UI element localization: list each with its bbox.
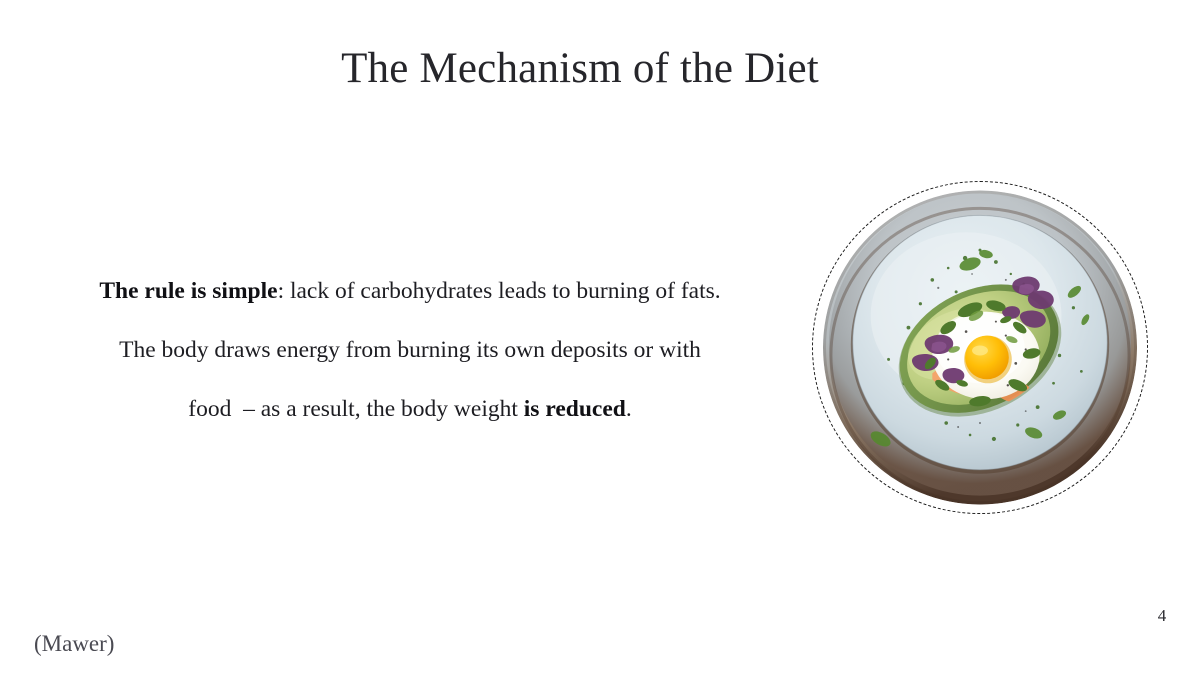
slide-image-figure	[812, 181, 1148, 514]
body-line-1-rest: : lack of carbohydrates leads to burning…	[278, 278, 721, 304]
body-text-block: The rule is simple: lack of carbohydrate…	[40, 262, 780, 439]
body-line-2-text: The body draws energy from burning its o…	[119, 337, 701, 363]
body-line-2: The body draws energy from burning its o…	[40, 321, 780, 380]
body-line-3-start: food – as a result, the body weight	[188, 396, 523, 422]
slide-page-number: 4	[1150, 606, 1174, 626]
food-photo-circle	[821, 190, 1139, 505]
body-line-3-end: .	[626, 396, 632, 422]
slide-canvas: The Mechanism of the Diet The rule is si…	[0, 0, 1200, 675]
body-line-1: The rule is simple: lack of carbohydrate…	[40, 262, 780, 321]
body-line-1-bold: The rule is simple	[99, 278, 277, 304]
baked-egg-in-avocado-photo-illustration	[821, 190, 1139, 505]
body-line-3-bold: is reduced	[524, 396, 626, 422]
body-line-3: food – as a result, the body weight is r…	[40, 380, 780, 439]
page-title: The Mechanism of the Diet	[0, 44, 1160, 95]
citation-source: (Mawer)	[34, 631, 114, 656]
